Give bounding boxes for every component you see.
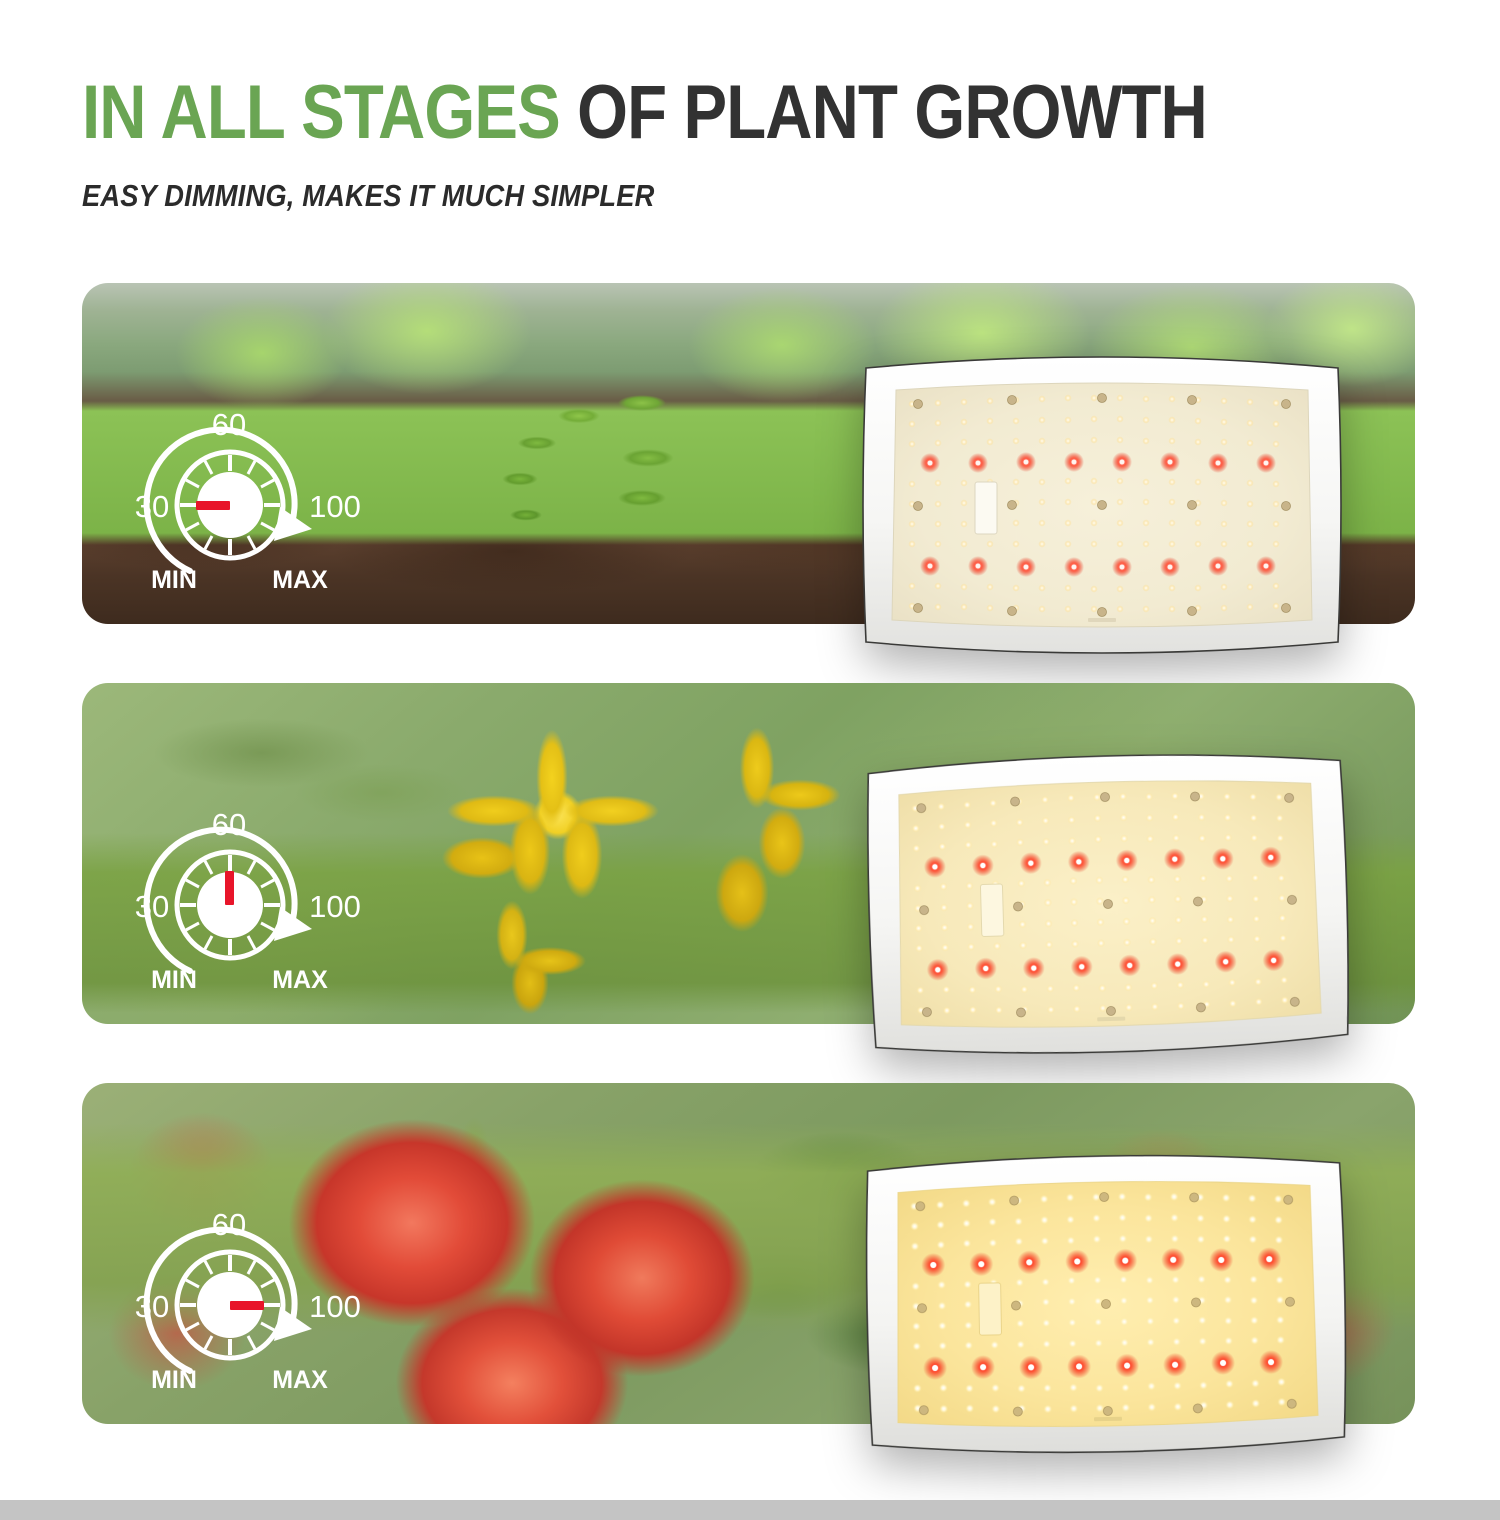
led-grow-light-panel-flowering [862,738,1355,1069]
dial-label-min: MIN [151,1366,197,1394]
page-header: IN ALL STAGES OF PLANT GROWTH EASY DIMMI… [82,78,1422,214]
page-title-dark-text: OF PLANT GROWTH [577,70,1207,155]
brand-mark [1088,618,1116,622]
dimmer-dial-seedling[interactable]: 60 30 100 MIN MAX [122,403,352,593]
page-title: IN ALL STAGES OF PLANT GROWTH [82,78,1234,148]
brand-mark [1097,1017,1125,1022]
dial-label-min: MIN [151,566,197,594]
dial-label-30: 30 [135,489,169,524]
dial-label-max: MAX [272,966,328,994]
stage-row-fruiting: 60 30 100 MIN MAX [0,1083,1500,1483]
dial-label-100: 100 [309,1289,361,1324]
driver-chip [975,482,997,534]
dimmer-dial-flowering[interactable]: 60 30 100 MIN MAX [122,803,352,993]
dial-label-30: 30 [135,1289,169,1324]
dial-label-max: MAX [272,566,328,594]
led-grow-light-panel-fruiting [861,1141,1350,1467]
dial-label-min: MIN [151,966,197,994]
page-title-green: IN ALL STAGES [82,70,560,155]
dial-label-60: 60 [212,407,246,442]
dimmer-dial-fruiting[interactable]: 60 30 100 MIN MAX [122,1203,352,1393]
stage-row-flowering: 60 30 100 MIN MAX [0,683,1500,1083]
page-subtitle: EASY DIMMING, MAKES IT MUCH SIMPLER [82,178,1261,214]
driver-chip [980,884,1003,937]
stage-row-seedling: 60 30 100 MIN MAX [0,283,1500,683]
page-title-dark [560,70,577,155]
led-grow-light-panel-seedling [860,346,1344,664]
dial-label-100: 100 [309,889,361,924]
dial-pointer-indicator [230,1301,264,1310]
driver-chip [979,1283,1002,1335]
dial-label-30: 30 [135,889,169,924]
brand-mark [1094,1417,1122,1421]
dial-label-100: 100 [309,489,361,524]
dial-label-60: 60 [212,1207,246,1242]
dial-pointer-indicator [196,501,230,510]
dial-label-60: 60 [212,807,246,842]
dial-pointer-indicator [225,871,234,905]
bottom-bar [0,1500,1500,1520]
dial-label-max: MAX [272,1366,328,1394]
